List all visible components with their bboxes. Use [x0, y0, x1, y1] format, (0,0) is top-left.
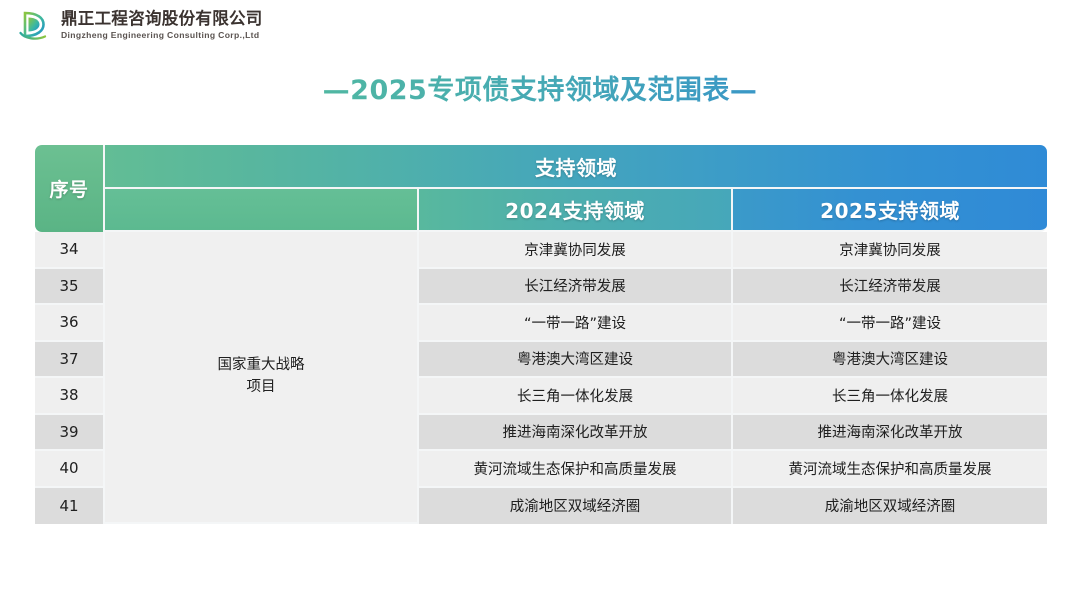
header-seq: 序号: [35, 145, 105, 232]
cell-2024-scope: 京津冀协同发展: [419, 232, 733, 269]
table-row: 34国家重大战略项目京津冀协同发展京津冀协同发展: [35, 232, 1047, 269]
brand-header: 鼎正工程咨询股份有限公司 Dingzheng Engineering Consu…: [18, 6, 263, 46]
brand-text-block: 鼎正工程咨询股份有限公司 Dingzheng Engineering Consu…: [61, 10, 263, 41]
cell-2024-scope: “一带一路”建设: [419, 305, 733, 342]
cell-seq: 37: [35, 342, 105, 379]
cell-2025-scope: 长江经济带发展: [733, 269, 1047, 306]
cell-2024-scope: 黄河流域生态保护和高质量发展: [419, 451, 733, 488]
cell-2024-scope: 长三角一体化发展: [419, 378, 733, 415]
header-col-2025: 2025支持领域: [733, 189, 1047, 232]
cell-seq: 40: [35, 451, 105, 488]
table-body: 34国家重大战略项目京津冀协同发展京津冀协同发展35长江经济带发展长江经济带发展…: [35, 232, 1047, 524]
cell-2025-scope: 京津冀协同发展: [733, 232, 1047, 269]
cell-seq: 35: [35, 269, 105, 306]
cell-2025-scope: 粤港澳大湾区建设: [733, 342, 1047, 379]
cell-2024-scope: 粤港澳大湾区建设: [419, 342, 733, 379]
cell-2025-scope: 推进海南深化改革开放: [733, 415, 1047, 452]
slide-page: 鼎正工程咨询股份有限公司 Dingzheng Engineering Consu…: [0, 0, 1080, 607]
cell-seq: 38: [35, 378, 105, 415]
cell-2025-scope: 成渝地区双域经济圈: [733, 488, 1047, 525]
cell-2024-scope: 推进海南深化改革开放: [419, 415, 733, 452]
cell-2025-scope: 长三角一体化发展: [733, 378, 1047, 415]
header-col-2024: 2024支持领域: [419, 189, 733, 232]
cell-2025-scope: “一带一路”建设: [733, 305, 1047, 342]
header-support-area: 支持领域: [105, 145, 1047, 189]
dingzheng-d-logo-icon: [18, 9, 52, 43]
cell-category: 国家重大战略项目: [105, 232, 419, 524]
brand-name-en: Dingzheng Engineering Consulting Corp.,L…: [61, 30, 263, 41]
support-scope-table-wrapper: 序号 支持领域 2024支持领域 2025支持领域 34国家重大战略项目京津冀协…: [35, 145, 1047, 524]
header-category-blank: [105, 189, 419, 232]
brand-name-cn: 鼎正工程咨询股份有限公司: [61, 10, 263, 29]
cell-seq: 41: [35, 488, 105, 525]
cell-2024-scope: 成渝地区双域经济圈: [419, 488, 733, 525]
page-title: —2025专项债支持领域及范围表—: [0, 68, 1080, 107]
cell-2025-scope: 黄河流域生态保护和高质量发展: [733, 451, 1047, 488]
cell-2024-scope: 长江经济带发展: [419, 269, 733, 306]
header-row-bottom: 2024支持领域 2025支持领域: [35, 189, 1047, 232]
cell-seq: 36: [35, 305, 105, 342]
support-scope-table: 序号 支持领域 2024支持领域 2025支持领域 34国家重大战略项目京津冀协…: [35, 145, 1047, 524]
table-header: 序号 支持领域 2024支持领域 2025支持领域: [35, 145, 1047, 232]
cell-seq: 39: [35, 415, 105, 452]
header-row-top: 序号 支持领域: [35, 145, 1047, 189]
cell-seq: 34: [35, 232, 105, 269]
